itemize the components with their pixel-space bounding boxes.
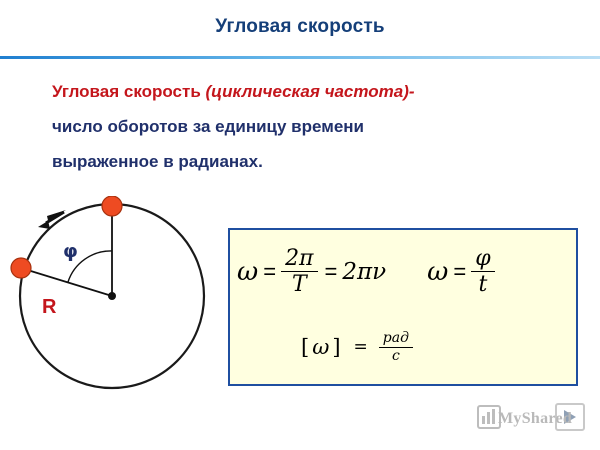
formula-main: ω = 2π T = 2πν ω = φ t (236, 246, 570, 316)
body-line-1-part-1: Угловая скорость (52, 82, 206, 101)
formula-two-pi-nu: 2πν (341, 246, 426, 297)
body-line-1: Угловая скорость (циклическая частота)- (52, 74, 562, 109)
page-title: Угловая скорость (0, 16, 600, 38)
formula-equals-2: = (324, 246, 342, 297)
units-omega: ω (310, 330, 331, 364)
formula-phi: φ (471, 247, 494, 270)
point-top (102, 196, 122, 216)
formula-period: T (281, 273, 317, 296)
formula-units: [ ω ] = рад с (300, 330, 520, 364)
units-bracket-open: [ (300, 330, 310, 364)
units-bracket-close: ] (331, 330, 352, 364)
formula-equals-1: = (262, 246, 280, 297)
units-numerator: рад (379, 331, 413, 346)
units-denominator: с (379, 349, 413, 364)
units-equals: = (353, 330, 378, 364)
title-divider (0, 56, 600, 59)
diagram-svg (6, 196, 216, 401)
formula-omega: ω (236, 246, 262, 297)
chart-icon (478, 406, 500, 428)
radius-label: R (42, 296, 56, 319)
body-line-3: выраженное в радианах. (52, 144, 562, 179)
body-text: Угловая скорость (циклическая частота)- … (52, 74, 562, 179)
circle-diagram (6, 196, 216, 401)
formula-fraction-2pi-T: 2π T (281, 247, 317, 296)
radius-line-left (21, 268, 112, 296)
formula-omega-2: ω (426, 246, 452, 297)
slide-root: Угловая скорость Угловая скорость (цикли… (0, 0, 600, 450)
angle-label: φ (63, 240, 78, 262)
title-band: Угловая скорость (0, 0, 600, 58)
watermark-text: MyShared (498, 410, 572, 428)
formula-t: t (471, 273, 494, 296)
units-fraction: рад с (379, 331, 413, 363)
formula-fraction-phi-t: φ t (471, 247, 494, 296)
formula-equals-3: = (452, 246, 470, 297)
body-line-1-part-2: (циклическая частота)- (206, 82, 415, 101)
formula-two-pi: 2π (281, 247, 317, 270)
body-line-2: число оборотов за единицу времени (52, 109, 562, 144)
point-left (11, 258, 31, 278)
